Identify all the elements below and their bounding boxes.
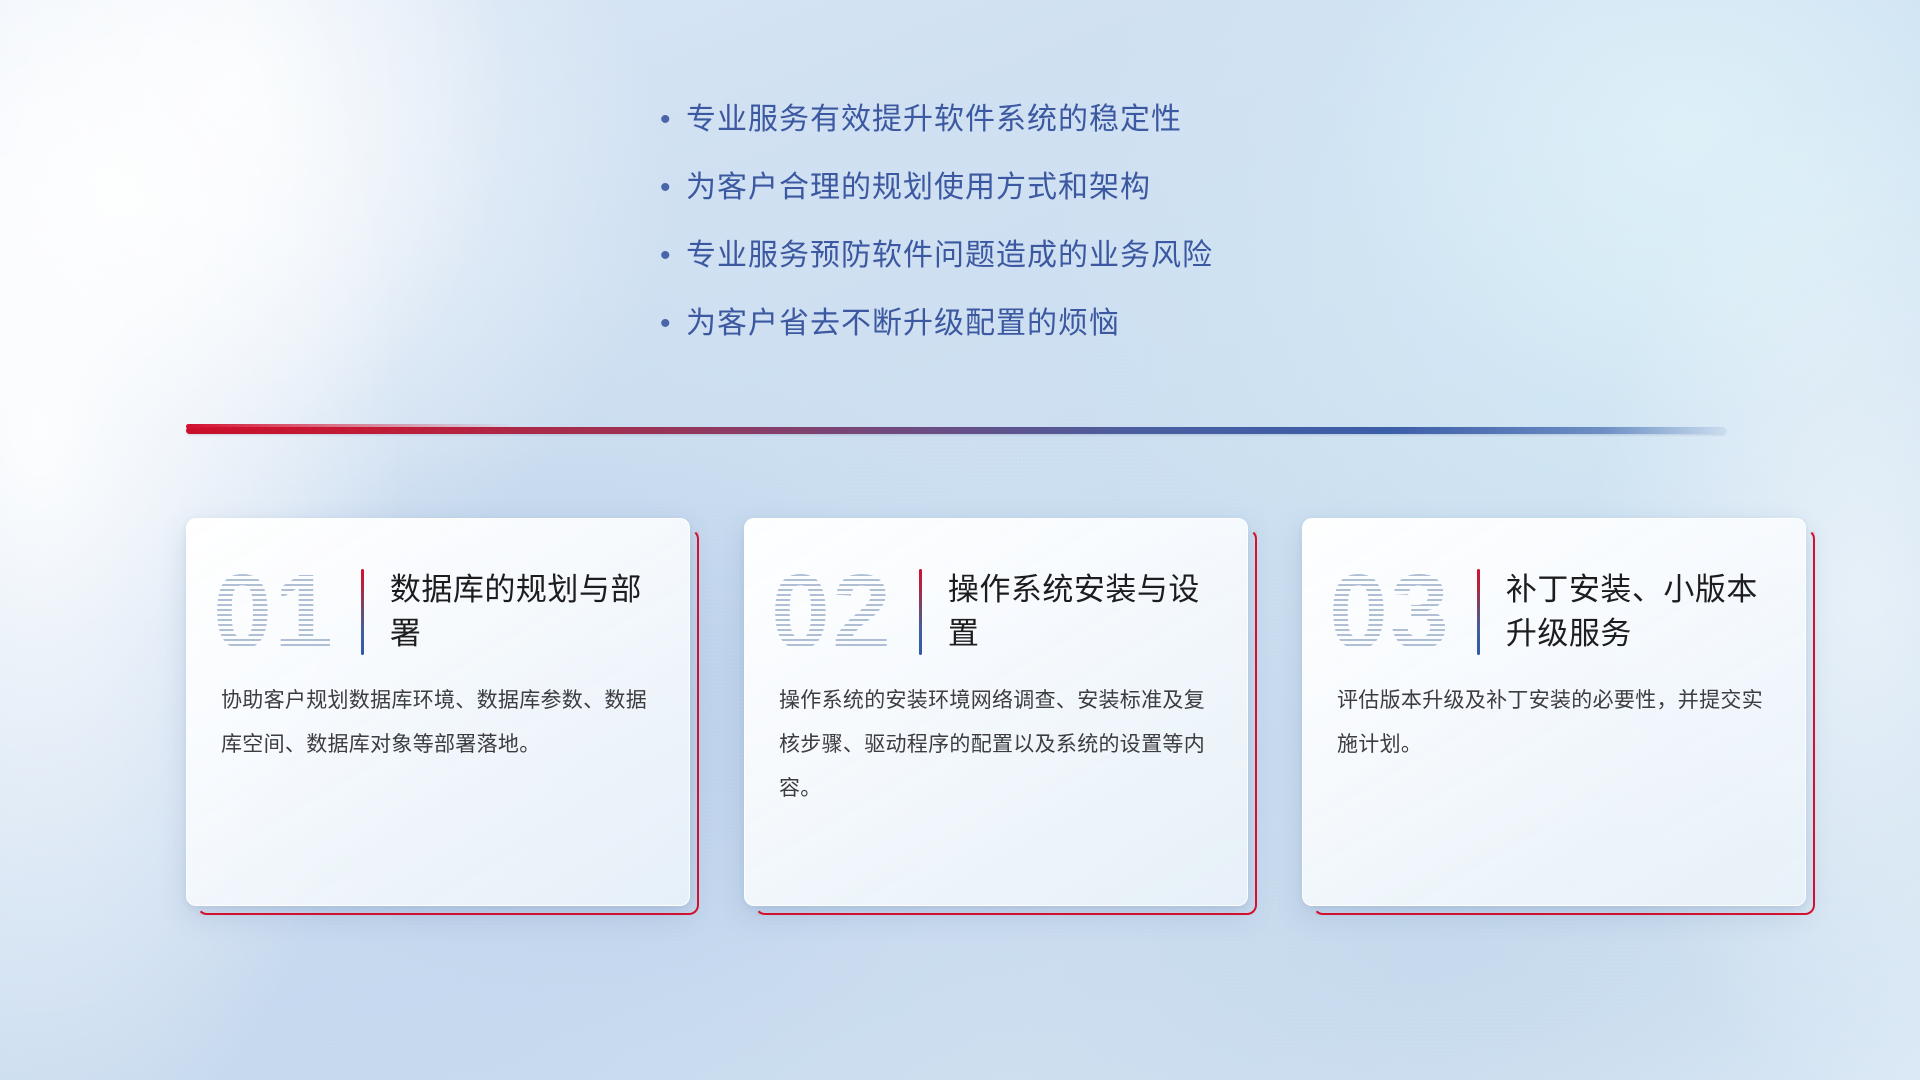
benefits-bullet-list: • 专业服务有效提升软件系统的稳定性 • 为客户合理的规划使用方式和架构 • 专… bbox=[660, 100, 1440, 372]
slide-root: • 专业服务有效提升软件系统的稳定性 • 为客户合理的规划使用方式和架构 • 专… bbox=[0, 0, 1920, 1080]
card-divider-tick bbox=[1477, 569, 1480, 655]
card-title: 数据库的规划与部署 bbox=[390, 568, 659, 656]
section-divider bbox=[186, 427, 1726, 434]
card-number-watermark: 01 bbox=[213, 559, 341, 665]
bullet-dot-icon: • bbox=[660, 100, 686, 140]
card-number-watermark: 03 bbox=[1329, 559, 1457, 665]
list-item: • 为客户合理的规划使用方式和架构 bbox=[660, 168, 1440, 208]
bullet-text: 为客户省去不断升级配置的烦恼 bbox=[686, 304, 1120, 344]
card-description: 协助客户规划数据库环境、数据库参数、数据库空间、数据库对象等部署落地。 bbox=[187, 669, 689, 767]
list-item: • 专业服务预防软件问题造成的业务风险 bbox=[660, 236, 1440, 276]
card-number-watermark: 02 bbox=[771, 559, 899, 665]
service-card-group: 01 数据库的规划与部署 协助客户规划数据库环境、数据库参数、数据库空间、数据库… bbox=[186, 518, 1806, 906]
card-header: 01 数据库的规划与部署 bbox=[187, 519, 689, 669]
card-header: 02 操作系统安装与设置 bbox=[745, 519, 1247, 669]
bullet-dot-icon: • bbox=[660, 168, 686, 208]
bullet-text: 专业服务有效提升软件系统的稳定性 bbox=[686, 100, 1182, 140]
card-description: 评估版本升级及补丁安装的必要性，并提交实施计划。 bbox=[1303, 669, 1805, 767]
bullet-dot-icon: • bbox=[660, 236, 686, 276]
service-card[interactable]: 03 补丁安装、小版本升级服务 评估版本升级及补丁安装的必要性，并提交实施计划。 bbox=[1302, 518, 1806, 906]
bullet-text: 为客户合理的规划使用方式和架构 bbox=[686, 168, 1151, 208]
card-description: 操作系统的安装环境网络调查、安装标准及复核步骤、驱动程序的配置以及系统的设置等内… bbox=[745, 669, 1247, 811]
bullet-text: 专业服务预防软件问题造成的业务风险 bbox=[686, 236, 1213, 276]
bullet-dot-icon: • bbox=[660, 304, 686, 344]
list-item: • 为客户省去不断升级配置的烦恼 bbox=[660, 304, 1440, 344]
card-title: 补丁安装、小版本升级服务 bbox=[1506, 568, 1775, 656]
card-title: 操作系统安装与设置 bbox=[948, 568, 1217, 656]
service-card[interactable]: 02 操作系统安装与设置 操作系统的安装环境网络调查、安装标准及复核步骤、驱动程… bbox=[744, 518, 1248, 906]
card-divider-tick bbox=[919, 569, 922, 655]
card-divider-tick bbox=[361, 569, 364, 655]
service-card[interactable]: 01 数据库的规划与部署 协助客户规划数据库环境、数据库参数、数据库空间、数据库… bbox=[186, 518, 690, 906]
card-header: 03 补丁安装、小版本升级服务 bbox=[1303, 519, 1805, 669]
list-item: • 专业服务有效提升软件系统的稳定性 bbox=[660, 100, 1440, 140]
